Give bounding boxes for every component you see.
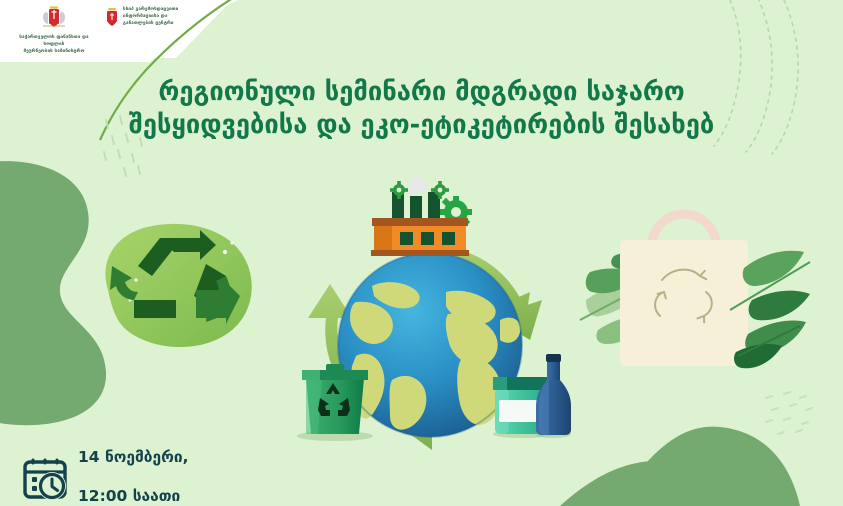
factory-icon <box>371 178 472 256</box>
recycle-symbol-on-blob <box>105 224 251 347</box>
tote-bag-body <box>620 240 748 366</box>
glass-bottle-icon <box>535 354 571 438</box>
calendar-clock-icon <box>22 455 68 501</box>
recycle-bin-icon <box>297 364 373 441</box>
poster-canvas: საქართველოს ფინანსთა და სოფლის მეურნეობი… <box>0 0 843 506</box>
date-line-2: 12:00 საათი <box>78 487 189 506</box>
date-block: 14 ნოემბერი, 12:00 საათი <box>22 428 189 506</box>
date-text: 14 ნოემბერი, 12:00 საათი <box>78 428 189 506</box>
eco-tote-bag-with-leaves <box>580 214 810 368</box>
earth-globe-icon <box>338 253 522 437</box>
date-line-1: 14 ნოემბერი, <box>78 448 189 468</box>
earth-globe-recycling-cycle <box>297 178 571 450</box>
